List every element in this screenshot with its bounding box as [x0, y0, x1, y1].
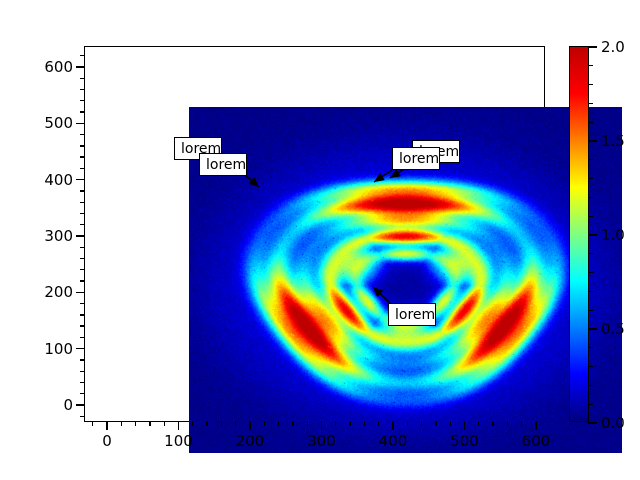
- y-tick-label: 600: [44, 58, 73, 76]
- colorbar-tick-major: [588, 328, 597, 329]
- y-tick-minor: [80, 89, 85, 90]
- x-tick-minor: [507, 421, 508, 426]
- colorbar-tick-minor: [588, 310, 593, 311]
- x-tick-label: 600: [522, 432, 551, 450]
- colorbar-tick-label: 1.0: [601, 226, 625, 244]
- colorbar-tick-minor: [588, 366, 593, 367]
- x-tick-minor: [407, 421, 408, 426]
- y-tick-minor: [80, 258, 85, 259]
- annotation-right-front[interactable]: lorem: [392, 147, 440, 170]
- x-tick-minor: [149, 421, 150, 426]
- y-tick-label: 0: [63, 396, 73, 414]
- x-tick-label: 0: [102, 432, 112, 450]
- y-tick-label: 500: [44, 114, 73, 132]
- x-tick-minor: [364, 421, 365, 426]
- y-tick-minor: [80, 202, 85, 203]
- x-tick-major: [392, 421, 393, 430]
- y-tick-major: [76, 123, 85, 124]
- x-tick-minor: [421, 421, 422, 426]
- colorbar-tick-minor: [588, 178, 593, 179]
- colorbar-tick-minor: [588, 291, 593, 292]
- x-tick-minor: [206, 421, 207, 426]
- colorbar-tick-minor: [588, 159, 593, 160]
- x-tick-minor: [349, 421, 350, 426]
- colorbar-gradient: [570, 47, 588, 421]
- annotation-bottom[interactable]: lorem: [388, 303, 436, 326]
- colorbar-tick-minor: [588, 272, 593, 273]
- y-tick-minor: [80, 280, 85, 281]
- plot-axes-frame: 0100200300400500600 0100200300400500600: [84, 46, 545, 422]
- x-tick-label: 200: [236, 432, 265, 450]
- y-tick-minor: [80, 134, 85, 135]
- y-tick-major: [76, 179, 85, 180]
- x-tick-major: [249, 421, 250, 430]
- x-tick-minor: [264, 421, 265, 426]
- y-tick-label: 300: [44, 227, 73, 245]
- y-tick-minor: [80, 156, 85, 157]
- colorbar-tick-label: 2.0: [601, 38, 625, 56]
- y-tick-minor: [80, 416, 85, 417]
- colorbar-tick-label: 1.5: [601, 132, 625, 150]
- colorbar-tick-minor: [588, 216, 593, 217]
- colorbar-tick-major: [588, 234, 597, 235]
- y-tick-minor: [80, 247, 85, 248]
- y-tick-minor: [80, 111, 85, 112]
- x-tick-minor: [292, 421, 293, 426]
- y-tick-minor: [80, 145, 85, 146]
- colorbar-tick-minor: [588, 65, 593, 66]
- x-tick-minor: [121, 421, 122, 426]
- x-tick-minor: [135, 421, 136, 426]
- x-tick-label: 400: [379, 432, 408, 450]
- colorbar-tick-minor: [588, 404, 593, 405]
- y-tick-minor: [80, 337, 85, 338]
- x-tick-label: 100: [164, 432, 193, 450]
- colorbar-tick-minor: [588, 253, 593, 254]
- y-tick-label: 200: [44, 283, 73, 301]
- x-tick-major: [535, 421, 536, 430]
- figure-canvas: 0100200300400500600 0100200300400500600 …: [0, 0, 640, 480]
- x-tick-minor: [435, 421, 436, 426]
- x-tick-minor: [307, 421, 308, 426]
- x-tick-minor: [192, 421, 193, 426]
- y-tick-major: [76, 348, 85, 349]
- x-tick-major: [321, 421, 322, 430]
- x-tick-major: [106, 421, 107, 430]
- colorbar-tick-minor: [588, 197, 593, 198]
- y-tick-minor: [80, 371, 85, 372]
- x-tick-major: [464, 421, 465, 430]
- x-tick-minor: [164, 421, 165, 426]
- y-tick-major: [76, 235, 85, 236]
- x-tick-label: 300: [307, 432, 336, 450]
- x-tick-minor: [378, 421, 379, 426]
- y-tick-major: [76, 404, 85, 405]
- y-tick-minor: [80, 224, 85, 225]
- x-tick-minor: [521, 421, 522, 426]
- y-tick-label: 400: [44, 171, 73, 189]
- y-tick-minor: [80, 100, 85, 101]
- y-tick-minor: [80, 382, 85, 383]
- x-tick-minor: [478, 421, 479, 426]
- y-tick-major: [76, 292, 85, 293]
- colorbar-tick-major: [588, 140, 597, 141]
- colorbar-tick-minor: [588, 122, 593, 123]
- x-tick-major: [178, 421, 179, 430]
- y-tick-minor: [80, 393, 85, 394]
- annotation-left-front[interactable]: lorem: [199, 153, 247, 176]
- x-tick-label: 500: [450, 432, 479, 450]
- colorbar-tick-minor: [588, 103, 593, 104]
- y-tick-minor: [80, 78, 85, 79]
- y-tick-minor: [80, 213, 85, 214]
- y-tick-minor: [80, 168, 85, 169]
- x-tick-minor: [450, 421, 451, 426]
- y-tick-minor: [80, 269, 85, 270]
- x-tick-minor: [492, 421, 493, 426]
- y-tick-minor: [80, 55, 85, 56]
- x-tick-minor: [235, 421, 236, 426]
- x-tick-minor: [221, 421, 222, 426]
- y-tick-minor: [80, 325, 85, 326]
- colorbar-tick-major: [588, 46, 597, 47]
- y-tick-minor: [80, 303, 85, 304]
- x-tick-minor: [335, 421, 336, 426]
- x-tick-minor: [278, 421, 279, 426]
- y-tick-label: 100: [44, 340, 73, 358]
- y-tick-minor: [80, 314, 85, 315]
- y-tick-minor: [80, 190, 85, 191]
- colorbar: 0.00.51.01.52.0: [569, 46, 589, 422]
- y-tick-major: [76, 66, 85, 67]
- colorbar-tick-minor: [588, 385, 593, 386]
- colorbar-tick-minor: [588, 347, 593, 348]
- colorbar-tick-major: [588, 422, 597, 423]
- y-tick-minor: [80, 359, 85, 360]
- colorbar-tick-label: 0.0: [601, 414, 625, 432]
- colorbar-tick-minor: [588, 84, 593, 85]
- colorbar-tick-label: 0.5: [601, 320, 625, 338]
- x-tick-minor: [92, 421, 93, 426]
